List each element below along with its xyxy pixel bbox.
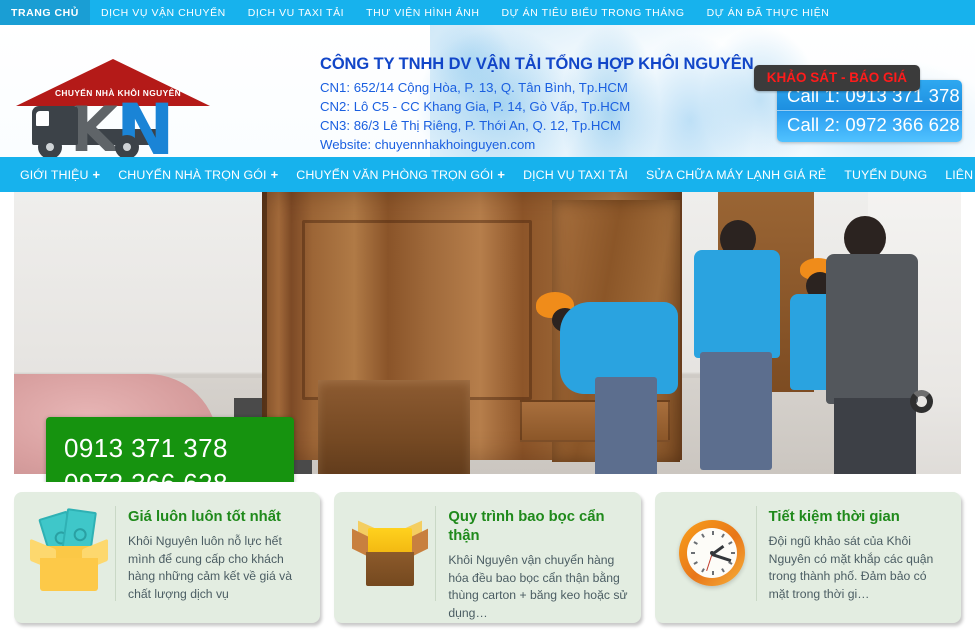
site-logo[interactable]: CHUYỂN NHÀ KHÔI NGUYÊN K N (8, 57, 213, 157)
feature-card-title: Quy trình bao bọc cẩn thận (448, 508, 628, 546)
menu-item-label: DỊCH VỤ TAXI TẢI (523, 168, 628, 182)
logo-truck-wheel-rear (115, 135, 139, 157)
menu-item-label: GIỚI THIỆU (20, 168, 89, 182)
logo-truck-wheel-front (38, 135, 62, 157)
company-info-block: CÔNG TY TNHH DV VẬN TẢI TỔNG HỢP KHÔI NG… (320, 55, 754, 154)
hotline-call-2[interactable]: Call 2: 0972 366 628 (777, 111, 962, 137)
menu-item-label: LIÊN HỆ: 0913 371 378 (945, 168, 975, 182)
menu-item-label: SỬA CHỮA MÁY LẠNH GIÁ RẺ (646, 168, 826, 182)
topnav-item-dich-vu-van-chuyen[interactable]: DỊCH VỤ VẬN CHUYỂN (90, 0, 237, 25)
company-branch-3: CN3: 86/3 Lê Thị Riêng, P. Thới An, Q. 1… (320, 116, 754, 135)
company-name: CÔNG TY TNHH DV VẬN TẢI TỔNG HỢP KHÔI NG… (320, 55, 754, 74)
top-navigation-bar: TRANG CHỦ DỊCH VỤ VẬN CHUYỂN DỊCH VU TAX… (0, 0, 975, 25)
topnav-item-trang-chu[interactable]: TRANG CHỦ (0, 0, 90, 25)
hero-banner[interactable]: 0913 371 378 0972 366 628 Mr Đồng (0, 192, 975, 482)
carton-box-icon (344, 506, 436, 601)
menu-item-tuyen-dung[interactable]: TUYỂN DỤNG (835, 168, 936, 182)
feature-card-time[interactable]: Tiết kiệm thời gian Đội ngũ khảo sát của… (655, 492, 961, 623)
feature-card-text: Khôi Nguyên vận chuyển hàng hóa đều bao … (448, 552, 628, 622)
feature-card-title: Giá luôn luôn tốt nhất (128, 508, 308, 527)
hero-right-margin (961, 192, 975, 482)
hero-phone-overlay: 0913 371 378 0972 366 628 Mr Đồng (46, 417, 294, 482)
hero-person-shirt-4 (826, 254, 918, 404)
feature-card-title: Tiết kiệm thời gian (769, 508, 949, 527)
hero-nightstand (318, 380, 470, 480)
feature-card-packing[interactable]: Quy trình bao bọc cẩn thận Khôi Nguyên v… (334, 492, 640, 623)
main-navigation-menu: GIỚI THIỆU + CHUYỂN NHÀ TRỌN GÓI + CHUYỂ… (0, 157, 975, 192)
hero-worker-jeans-2 (700, 352, 772, 470)
feature-card-text: Đội ngũ khảo sát của Khôi Nguyên có mặt … (769, 533, 949, 603)
loading-spinner-icon (910, 390, 933, 413)
topnav-item-dich-vu-taxi-tai[interactable]: DỊCH VU TAXI TẢI (237, 0, 355, 25)
menu-item-sua-chua-may-lanh[interactable]: SỬA CHỮA MÁY LẠNH GIÁ RẺ (637, 168, 835, 182)
menu-item-lien-he[interactable]: LIÊN HỆ: 0913 371 378 (936, 168, 975, 182)
menu-item-label: CHUYỂN VĂN PHÒNG TRỌN GÓI (296, 168, 493, 182)
clock-icon (665, 506, 757, 601)
hero-worker-jeans-1 (595, 377, 657, 482)
feature-card-price[interactable]: Giá luôn luôn tốt nhất Khôi Nguyên luôn … (14, 492, 320, 623)
hero-phone-1[interactable]: 0913 371 378 (64, 431, 294, 466)
topnav-item-du-an-da-thuc-hien[interactable]: DỰ ÁN ĐÃ THỰC HIỆN (696, 0, 841, 25)
menu-item-chuyen-nha-tron-goi[interactable]: CHUYỂN NHÀ TRỌN GÓI + (109, 167, 287, 182)
topnav-item-thu-vien-hinh-anh[interactable]: THƯ VIỆN HÌNH ẢNH (355, 0, 490, 25)
site-header: CHUYỂN NHÀ KHÔI NGUYÊN K N CÔNG TY TNHH … (0, 25, 975, 157)
menu-item-chuyen-van-phong-tron-goi[interactable]: CHUYỂN VĂN PHÒNG TRỌN GÓI + (287, 167, 514, 182)
topnav-item-du-an-tieu-bieu[interactable]: DỰ ÁN TIÊU BIỂU TRONG THÁNG (491, 0, 696, 25)
money-box-icon (24, 506, 116, 601)
logo-truck-window (36, 111, 49, 126)
menu-item-gioi-thieu[interactable]: GIỚI THIỆU + (11, 167, 109, 182)
feature-card-text: Khôi Nguyên luôn nỗ lực hết mình để cung… (128, 533, 308, 603)
survey-quote-badge[interactable]: KHẢO SÁT - BÁO GIÁ (754, 65, 920, 91)
company-branch-2: CN2: Lô C5 - CC Khang Gia, P. 14, Gò Vấp… (320, 97, 754, 116)
menu-item-label: CHUYỂN NHÀ TRỌN GÓI (118, 168, 266, 182)
plus-icon: + (93, 167, 101, 182)
hero-left-margin (0, 192, 14, 482)
company-website[interactable]: Website: chuyennhakhoinguyen.com (320, 135, 754, 154)
hero-phone-2[interactable]: 0972 366 628 (64, 466, 294, 482)
menu-item-label: TUYỂN DỤNG (844, 168, 927, 182)
plus-icon: + (497, 167, 505, 182)
hero-worker-shirt-2 (694, 250, 780, 358)
menu-item-dich-vu-taxi-tai[interactable]: DỊCH VỤ TAXI TẢI (514, 168, 637, 182)
feature-cards-row: Giá luôn luôn tốt nhất Khôi Nguyên luôn … (0, 482, 975, 623)
hero-person-pants-4 (834, 398, 916, 482)
plus-icon: + (271, 167, 279, 182)
company-branch-1: CN1: 652/14 Cộng Hòa, P. 13, Q. Tân Bình… (320, 78, 754, 97)
